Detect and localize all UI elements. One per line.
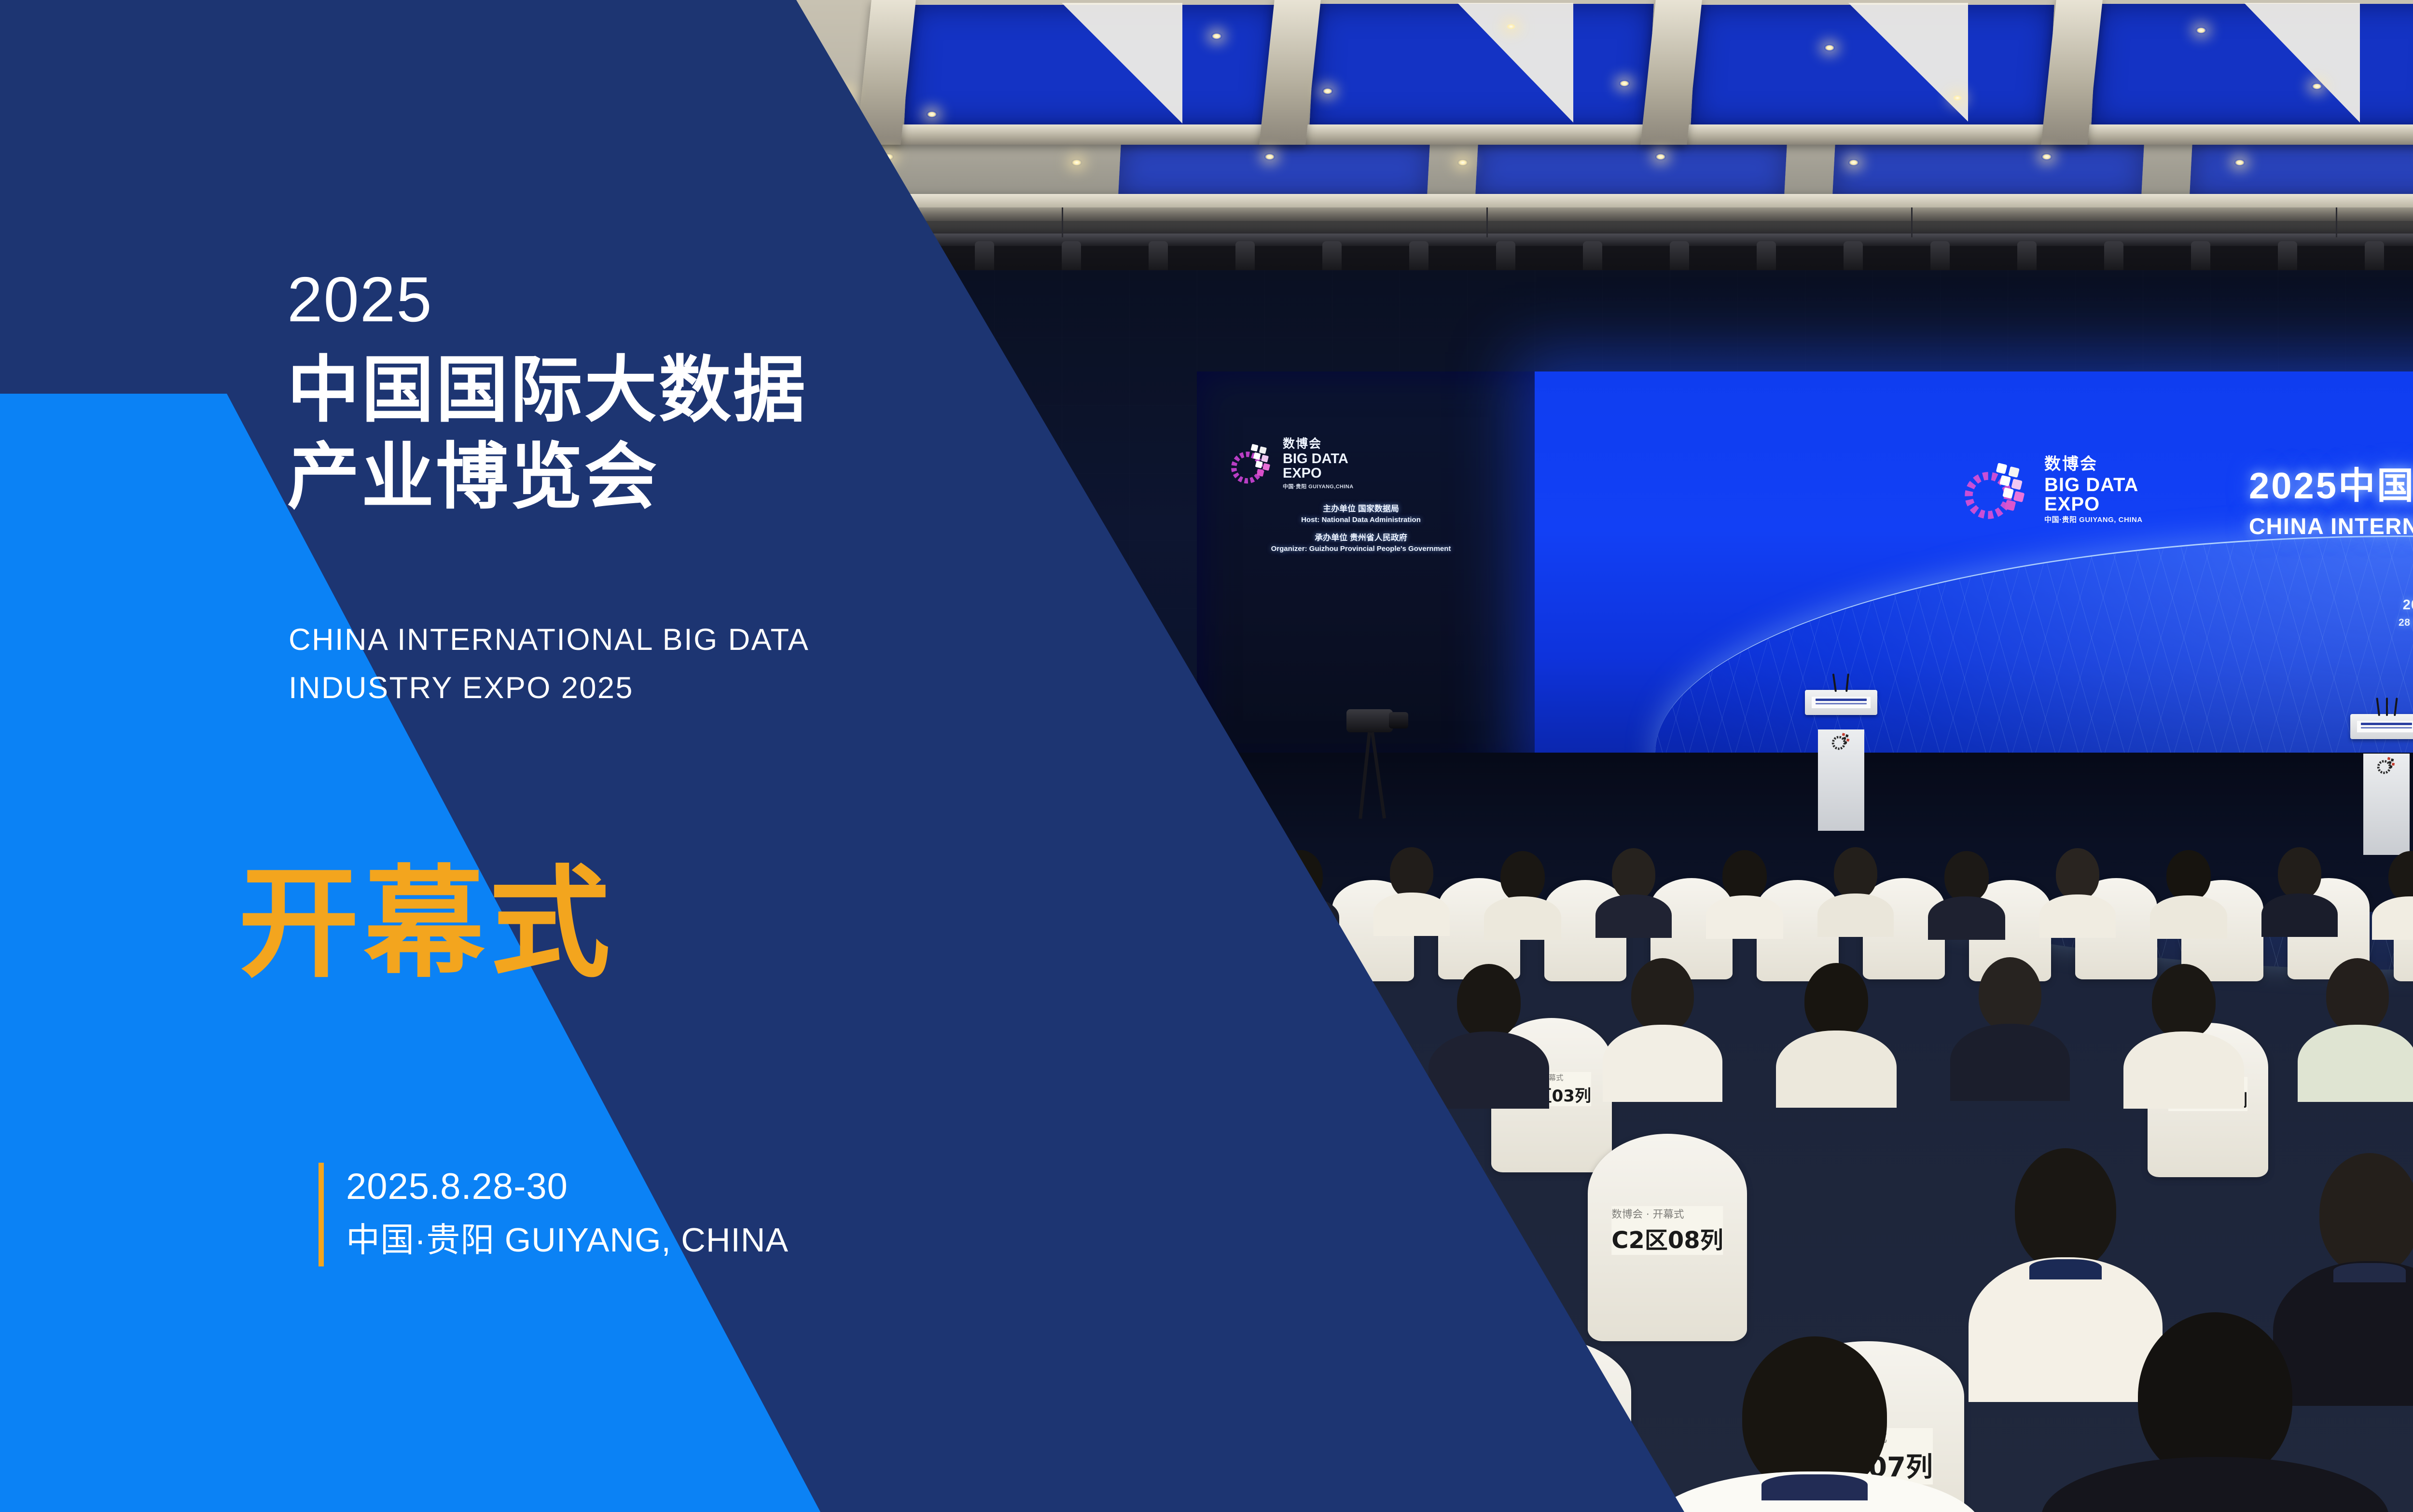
person-head (2056, 848, 2099, 900)
ceiling-light (1824, 44, 1835, 51)
truss-cable (1486, 207, 1488, 237)
audience-member (2152, 850, 2225, 927)
organizer-en: Organizer: Guizhou Provincial People's G… (1226, 544, 1496, 555)
truss-bar (917, 234, 2413, 246)
audience-member (1781, 963, 1892, 1088)
truss-cable (1911, 207, 1913, 237)
gold-accent-bar (319, 1163, 324, 1266)
person-shoulders (2123, 1031, 2244, 1109)
person-shoulders (1950, 1024, 2070, 1101)
logo-subtitle: 中国·贵阳 GUIYANG,CHINA (1283, 482, 1354, 490)
audience-member (2374, 851, 2413, 928)
audience-member (2128, 964, 2239, 1089)
screen-date-cn: 2025年8月28日 中国·贵阳 (2399, 593, 2413, 614)
person-shoulders (2261, 893, 2338, 937)
person-head (2319, 1153, 2413, 1275)
audience-member (1375, 847, 1448, 924)
screen-headline-cn: 2025中国国际大数据产业博览会 (2249, 456, 2413, 509)
logo-en-line2: EXPO (1283, 466, 1354, 481)
bigdata-logo-mark-icon (1959, 454, 2032, 526)
ceiling-light (1211, 33, 1222, 40)
screen-left-panel: 数博会 BIG DATA EXPO 中国·贵阳 GUIYANG,CHINA 主办… (1197, 371, 1535, 767)
podium-nameplate (2357, 721, 2413, 732)
person-head (1612, 848, 1655, 900)
person-head (1834, 847, 1877, 899)
person-head (2138, 1312, 2292, 1481)
screen-date-en: 28 AUGUST 2025 GUIYANG, CHINA (2399, 617, 2413, 629)
person-shoulders (1428, 1031, 1549, 1109)
logo-en-line1: BIG DATA (1283, 452, 1354, 466)
person-head (2166, 850, 2211, 901)
podium-nameplate (1812, 697, 1871, 708)
ceiling-blue-panel (2190, 140, 2413, 198)
person-shoulders (1373, 893, 1450, 936)
panel-title-cn-1: 中国国际大数据 (287, 347, 807, 433)
camera-lens (1389, 712, 1408, 729)
seat-tag-sub: 数博会 · 开幕式 (1611, 1206, 1723, 1221)
person-head (2278, 847, 2321, 899)
podium-top (2350, 714, 2413, 739)
ceiling-light (1655, 153, 1666, 160)
person-shoulders (1776, 1031, 1897, 1108)
audience-member (1433, 964, 1544, 1089)
screen-logo-sub: 中国·贵阳 GUIYANG, CHINA (2044, 516, 2143, 523)
podium-logo-icon (2375, 754, 2398, 777)
audience-member (1930, 851, 2003, 928)
person-shoulders (2298, 1025, 2413, 1102)
person-head (1390, 847, 1433, 898)
person-head (2015, 1148, 2116, 1271)
ceiling-light (1457, 159, 1468, 166)
person-lanyard (2333, 1263, 2406, 1282)
ceiling-light (2234, 159, 2245, 166)
person-shoulders (2039, 894, 2116, 938)
person-shoulders (1484, 896, 1561, 940)
seat-tag-label: C2区08列 (1611, 1227, 1723, 1254)
ceiling-sail (1457, 3, 1573, 123)
screen-main-panel: 数博会 BIG DATA EXPO 中国·贵阳 GUIYANG, CHINA 2… (1535, 371, 2413, 767)
person-head (1944, 851, 1989, 902)
ceiling-light (1506, 23, 1516, 30)
ceiling-light (1619, 80, 1630, 87)
panel-year: 2025 (287, 268, 433, 331)
person-head (1500, 851, 1545, 902)
screen-logo-cn: 数博会 (2044, 456, 2143, 472)
ceiling-sail (2244, 3, 2360, 123)
audience-member (1708, 850, 1781, 927)
ceiling-blue-panel (1118, 140, 1430, 198)
bigdata-expo-logo-left: 数博会 BIG DATA EXPO 中国·贵阳 GUIYANG,CHINA (1226, 434, 1496, 490)
ceiling-light (2041, 153, 2052, 160)
person-head (2388, 851, 2413, 902)
host-cn: 主办单位 国家数据局 (1226, 503, 1496, 515)
podium-top (1805, 690, 1877, 715)
opening-ceremony-heading: 开幕式 (238, 864, 615, 984)
audience-member-foreground (2066, 1312, 2365, 1512)
date-location-block: 2025.8.28-30 中国·贵阳 GUIYANG, CHINA (319, 1163, 789, 1266)
screen-headline-en: CHINA INTERNATIONAL BIG DATA INDUSTRY EX… (2249, 513, 2413, 539)
truss-cable (2336, 207, 2337, 237)
audience-member (1819, 847, 1892, 924)
chair-near: 数博会 · 开幕式 C2区08列 (1588, 1134, 1747, 1341)
person-head (1457, 964, 1521, 1039)
person-shoulders (1706, 895, 1783, 939)
screen-headline-block: 2025中国国际大数据产业博览会 CHINA INTERNATIONAL BIG… (2249, 456, 2413, 539)
person-head (1979, 957, 2041, 1031)
person-shoulders (2150, 895, 2227, 939)
left-panel-copy: 2025 中国国际大数据 产业博览会 CHINA INTERNATIONAL B… (287, 0, 1108, 1512)
bigdata-expo-logo-main: 数博会 BIG DATA EXPO 中国·贵阳 GUIYANG, CHINA (1959, 454, 2143, 526)
ceiling-light (2196, 27, 2206, 34)
screen-logo-en2: EXPO (2044, 495, 2143, 514)
audience-member (1607, 958, 1718, 1084)
audience-member-foreground (1665, 1336, 1964, 1512)
screen-logo-en1: BIG DATA (2044, 475, 2143, 495)
logo-cn-text: 数博会 (1283, 434, 1354, 452)
person-head (2326, 958, 2389, 1032)
panel-title-en-2: INDUSTRY EXPO 2025 (289, 671, 634, 705)
person-head (1631, 958, 1694, 1032)
audience-member (1955, 957, 2066, 1083)
organizer-cn: 承办单位 贵州省人民政府 (1226, 532, 1496, 544)
podium-logo-icon (1830, 729, 1853, 753)
ceiling-light (1264, 153, 1275, 160)
person-shoulders (2372, 896, 2413, 940)
person-head (1804, 963, 1868, 1038)
camera-body (1346, 709, 1393, 732)
audience-member (2302, 958, 2413, 1084)
person-shoulders (1595, 894, 1672, 938)
expo-opening-ceremony-banner: 数博会 BIG DATA EXPO 中国·贵阳 GUIYANG,CHINA 主办… (0, 0, 2413, 1512)
person-shoulders (1603, 1025, 1722, 1102)
ceiling-blue-panel (1832, 140, 2144, 198)
person-head (1722, 850, 1767, 901)
person-head (2152, 964, 2216, 1039)
panel-title-en-1: CHINA INTERNATIONAL BIG DATA (289, 622, 809, 657)
ceiling-light (2312, 83, 2322, 90)
event-location: 中国·贵阳 GUIYANG, CHINA (346, 1218, 789, 1262)
person-shoulders (1928, 896, 2005, 940)
person-lanyard (1761, 1474, 1868, 1500)
ceiling-blue-panel (1475, 140, 1787, 198)
event-date: 2025.8.28-30 (346, 1163, 789, 1211)
ceiling-light (1848, 159, 1859, 166)
panel-title-cn-2: 产业博览会 (287, 434, 659, 520)
podium-microphone (2386, 698, 2388, 716)
audience-member (1486, 851, 1559, 928)
ceiling-sail (1848, 3, 1968, 122)
bigdata-logo-mark-icon (1226, 438, 1275, 487)
screen-date-block: 2025年8月28日 中国·贵阳 28 AUGUST 2025 GUIYANG,… (2399, 593, 2413, 629)
person-lanyard (2029, 1259, 2102, 1279)
person-shoulders (2041, 1457, 2389, 1512)
person-shoulders (1817, 893, 1894, 937)
ceiling-light (1322, 88, 1333, 95)
host-en: Host: National Data Administration (1226, 515, 1496, 526)
audience-member (2263, 847, 2336, 924)
audience-member (1597, 848, 1670, 925)
audience-member (2041, 848, 2114, 925)
ceiling-light (1952, 95, 1963, 101)
podium-left (1805, 690, 1877, 831)
seat-tag: 数博会 · 开幕式 C2区08列 (1611, 1206, 1723, 1255)
globe-flare (1771, 536, 2041, 576)
host-organizer-block: 主办单位 国家数据局 Host: National Data Administr… (1226, 503, 1496, 555)
